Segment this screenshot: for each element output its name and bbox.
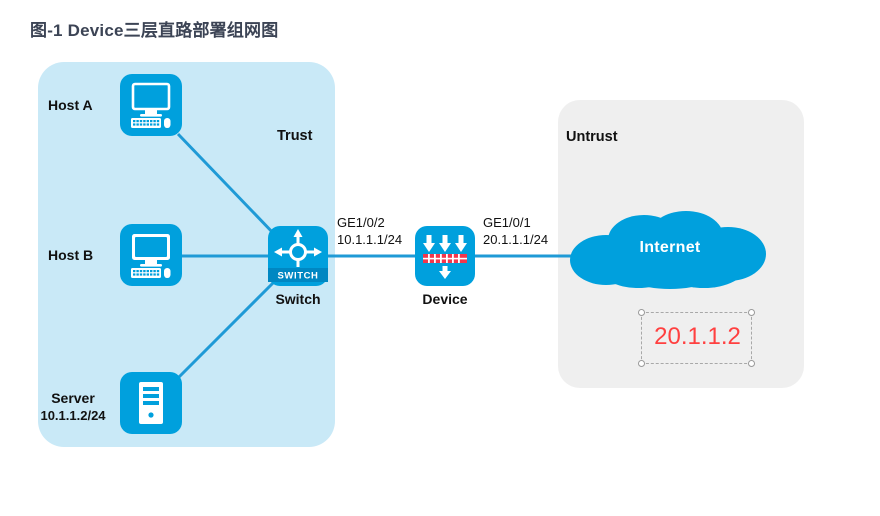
internet-cloud-label: Internet xyxy=(568,239,772,257)
firewall-icon xyxy=(415,226,475,286)
link-server-switch xyxy=(178,282,274,378)
ip-annotation-textbox[interactable]: 20.1.1.2 xyxy=(641,312,752,364)
internet-cloud-node[interactable]: Internet xyxy=(568,208,772,292)
host-b-label: Host B xyxy=(48,247,93,263)
resize-handle-top-left[interactable] xyxy=(638,309,645,316)
interface-left-name: GE1/0/2 xyxy=(337,215,402,232)
switch-label: Switch xyxy=(268,291,328,307)
device-node[interactable] xyxy=(415,226,475,286)
server-label: Server 10.1.1.2/24 xyxy=(32,390,114,424)
resize-handle-bottom-right[interactable] xyxy=(748,360,755,367)
desktop-computer-icon xyxy=(120,74,182,136)
host-b-node[interactable] xyxy=(120,224,182,286)
server-name: Server xyxy=(32,390,114,408)
interface-left-ip: 10.1.1.1/24 xyxy=(337,232,402,249)
server-node[interactable] xyxy=(120,372,182,434)
resize-handle-bottom-left[interactable] xyxy=(638,360,645,367)
device-label: Device xyxy=(415,291,475,307)
interface-right-ip: 20.1.1.1/24 xyxy=(483,232,548,249)
resize-handle-top-right[interactable] xyxy=(748,309,755,316)
host-a-node[interactable] xyxy=(120,74,182,136)
interface-right-name: GE1/0/1 xyxy=(483,215,548,232)
link-host-a-switch xyxy=(178,134,276,236)
switch-icon: SWITCH xyxy=(268,226,328,286)
interface-label-left: GE1/0/2 10.1.1.1/24 xyxy=(337,215,402,249)
ip-annotation-text: 20.1.1.2 xyxy=(642,323,753,351)
server-ip: 10.1.1.2/24 xyxy=(32,408,114,424)
desktop-computer-icon xyxy=(120,224,182,286)
switch-node[interactable]: SWITCH xyxy=(268,226,328,286)
host-a-label: Host A xyxy=(48,97,93,113)
svg-text:SWITCH: SWITCH xyxy=(277,271,318,282)
server-tower-icon xyxy=(120,372,182,434)
interface-label-right: GE1/0/1 20.1.1.1/24 xyxy=(483,215,548,249)
